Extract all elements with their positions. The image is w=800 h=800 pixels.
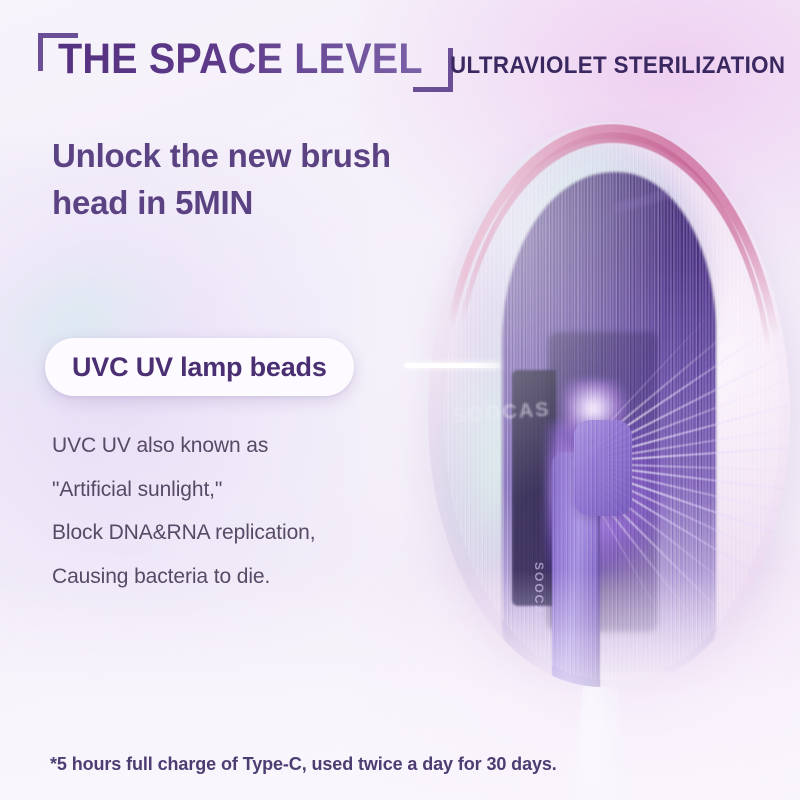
headline-block: Unlock the new brush head in 5MIN: [52, 133, 442, 227]
corner-bracket-bottom-right-icon: [413, 48, 453, 92]
callout-leader-line: [404, 363, 500, 368]
background-vignette: [0, 0, 800, 800]
body-line-1: UVC UV also known as: [52, 424, 412, 468]
callout-pill-uvc-lamp-beads: UVC UV lamp beads: [45, 338, 354, 396]
body-line-2: "Artificial sunlight,": [52, 468, 412, 512]
body-line-3: Block DNA&RNA replication,: [52, 511, 412, 555]
callout-pill-label: UVC UV lamp beads: [72, 352, 327, 383]
page-subtitle: ULTRAVIOLET STERILIZATION: [450, 52, 785, 80]
headline-line-1: Unlock the new brush: [52, 133, 442, 180]
footer-disclaimer: *5 hours full charge of Type-C, used twi…: [50, 754, 557, 775]
product-banner: SOOCAS SOOCAS THE SPACE LEVEL ULTRAVIOLE…: [0, 0, 800, 800]
body-copy-block: UVC UV also known as "Artificial sunligh…: [52, 424, 412, 599]
headline-line-2: head in 5MIN: [52, 180, 442, 227]
header-section: THE SPACE LEVEL ULTRAVIOLET STERILIZATIO…: [0, 0, 800, 118]
body-line-4: Causing bacteria to die.: [52, 555, 412, 599]
page-title: THE SPACE LEVEL: [58, 38, 423, 81]
